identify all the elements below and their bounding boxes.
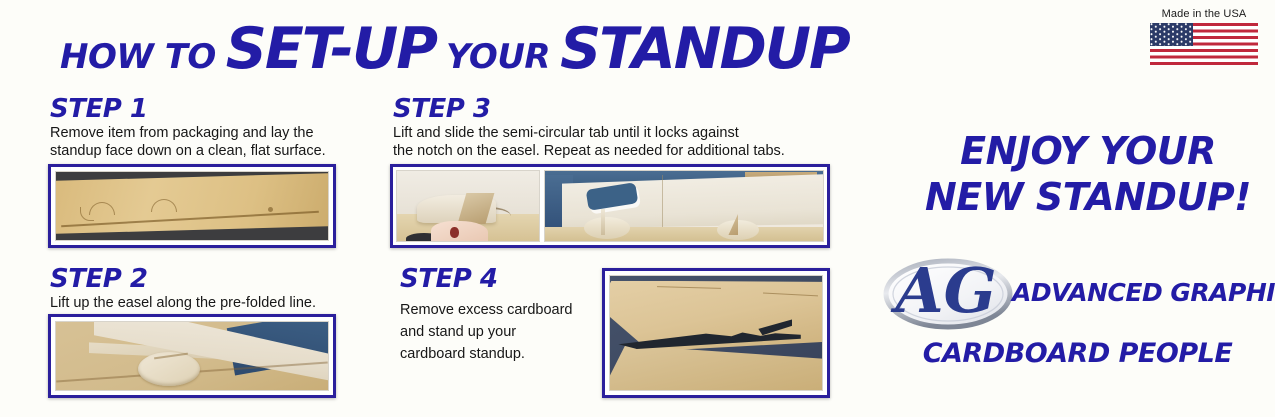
hand-sliding-tab-photo bbox=[397, 171, 539, 241]
easel-lifted-photo bbox=[56, 322, 328, 390]
step-1-line-1: Remove item from packaging and lay the bbox=[50, 124, 314, 143]
step-2-line-1: Lift up the easel along the pre-folded l… bbox=[50, 294, 316, 313]
step-4-line-3: cardboard standup. bbox=[400, 345, 525, 364]
step-2-heading: STEP 2 bbox=[50, 264, 147, 294]
step-3-line-1: Lift and slide the semi-circular tab unt… bbox=[393, 124, 739, 143]
title-how-to: HOW TO bbox=[60, 37, 216, 77]
cardboard-standup-face-down-photo bbox=[56, 172, 328, 240]
flag-stars bbox=[1150, 23, 1193, 46]
us-flag-icon bbox=[1150, 23, 1258, 65]
step-3-line-2: the notch on the easel. Repeat as needed… bbox=[393, 142, 785, 161]
excess-cardboard-removed-photo bbox=[610, 276, 822, 390]
title-your: YOUR bbox=[446, 37, 550, 77]
step-3-heading: STEP 3 bbox=[393, 94, 490, 124]
title-set-up: SET-UP bbox=[226, 16, 436, 82]
made-in-usa-caption: Made in the USA bbox=[1148, 8, 1260, 20]
closing-line-1: ENJOY YOUR bbox=[908, 128, 1268, 174]
step-1-line-2: standup face down on a clean, flat surfa… bbox=[50, 142, 326, 161]
made-in-usa-badge: Made in the USA bbox=[1148, 8, 1260, 65]
step-2-photo-frame bbox=[48, 314, 336, 398]
ag-oval-logo-icon: AG bbox=[880, 248, 1020, 340]
instruction-sheet: HOW TO SET-UP YOUR STANDUP Made in the U… bbox=[0, 0, 1275, 417]
page-title: HOW TO SET-UP YOUR STANDUP bbox=[60, 16, 849, 82]
ag-logo-letters: AG bbox=[890, 254, 996, 327]
step-4-photo-frame bbox=[602, 268, 830, 398]
locked-tabs-on-easel-photo bbox=[545, 171, 823, 241]
step-4-heading: STEP 4 bbox=[400, 264, 497, 294]
closing-message: ENJOY YOUR NEW STANDUP! bbox=[908, 128, 1268, 220]
closing-line-2: NEW STANDUP! bbox=[908, 174, 1268, 220]
step-4-line-1: Remove excess cardboard bbox=[400, 301, 572, 320]
company-name: ADVANCED GRAPHICS bbox=[1012, 278, 1275, 307]
title-standup: STANDUP bbox=[560, 16, 849, 82]
brand-row: AG ADVANCED GRAPHICS bbox=[880, 248, 1275, 340]
brand-tagline: CARDBOARD PEOPLE bbox=[880, 338, 1275, 369]
step-4-line-2: and stand up your bbox=[400, 323, 516, 342]
step-1-heading: STEP 1 bbox=[50, 94, 147, 124]
step-3-photo-frame bbox=[390, 164, 830, 248]
step-1-photo-frame bbox=[48, 164, 336, 248]
